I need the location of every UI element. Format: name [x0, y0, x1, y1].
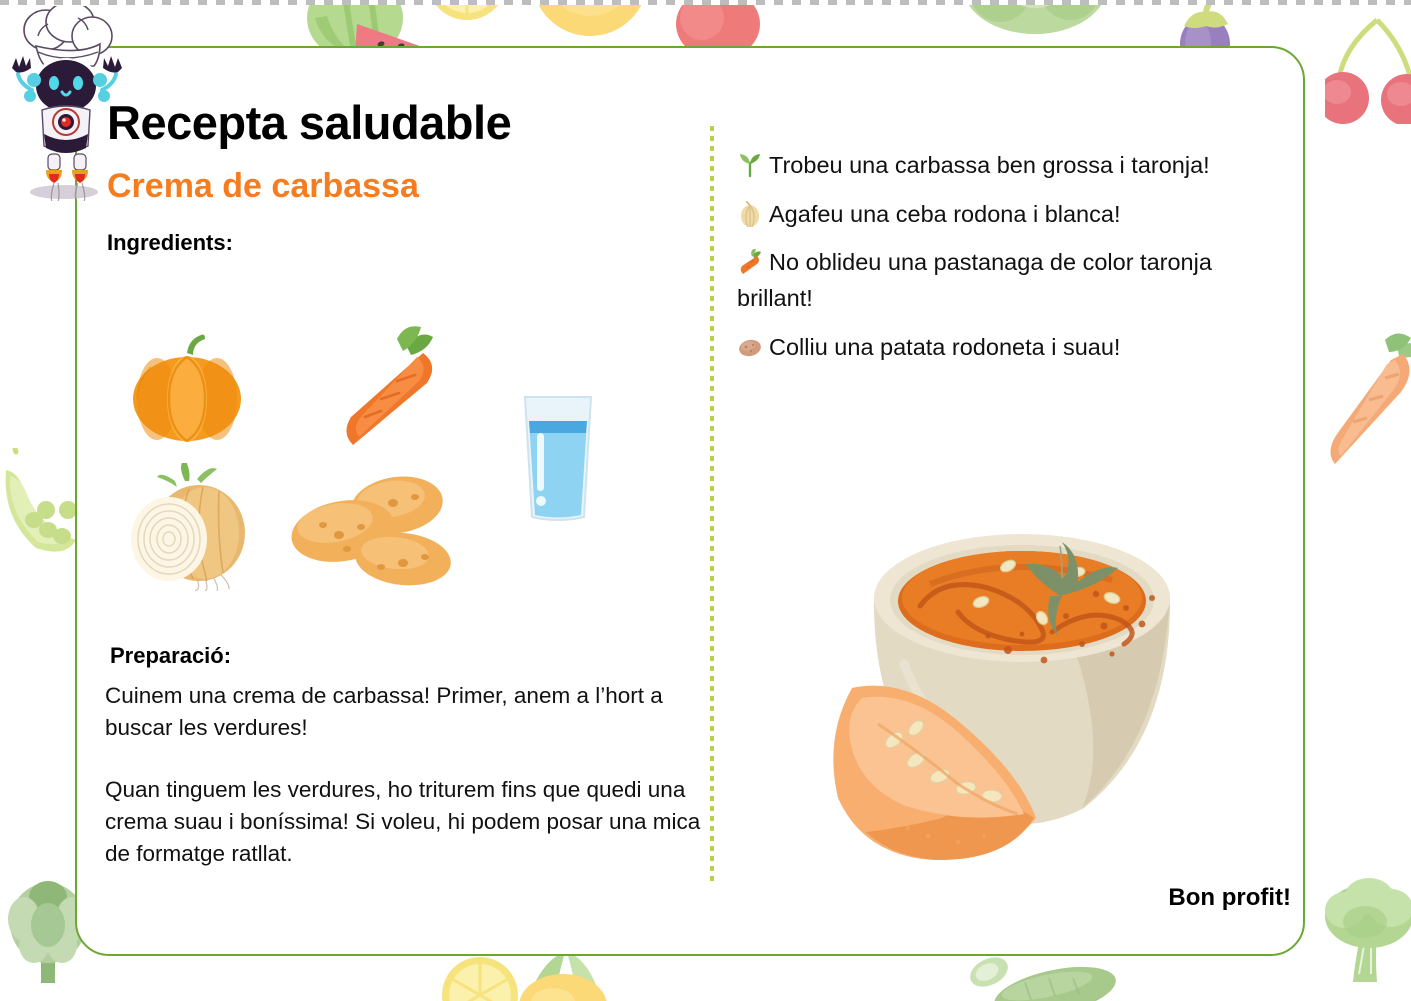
- right-column: Trobeu una carbassa ben grossa i taronja…: [737, 148, 1282, 379]
- ingredients-image-grid: [107, 323, 703, 608]
- step-text: Colliu una patata rodoneta i suau!: [769, 334, 1120, 360]
- lettuce-decoration: [960, 0, 1110, 42]
- recipe-subtitle: Crema de carbassa: [107, 169, 703, 205]
- potatoes-image: [287, 473, 457, 591]
- pumpkin-image: [129, 333, 245, 445]
- closing-text: Bon profit!: [1168, 884, 1291, 912]
- recipe-card-page: Recepta saludable Crema de carbassa Ingr…: [0, 0, 1411, 1001]
- column-divider: [710, 126, 714, 881]
- left-column: Recepta saludable Crema de carbassa Ingr…: [107, 98, 703, 256]
- seedling-icon: [737, 152, 763, 178]
- steps-list: Trobeu una carbassa ben grossa i taronja…: [737, 148, 1282, 366]
- page-title: Recepta saludable: [107, 98, 703, 147]
- broccoli-decoration: [1325, 878, 1411, 988]
- pumpkin-soup-bowl-image: [812, 488, 1232, 868]
- preparation-text: Cuinem una crema de carbassa! Primer, an…: [105, 680, 705, 870]
- cherries-decoration: [1325, 6, 1411, 124]
- potato-icon: [737, 334, 763, 360]
- top-dashed-strip: [0, 0, 1411, 5]
- recipe-card: Recepta saludable Crema de carbassa Ingr…: [75, 46, 1305, 956]
- cucumber-decoration: [965, 952, 1125, 1001]
- preparation-label: Preparació:: [110, 643, 231, 669]
- carrot-icon: [737, 249, 763, 275]
- carrot-edge-decoration: [1325, 330, 1411, 470]
- lemon-slice-decoration: [422, 0, 512, 40]
- step-text: Agafeu una ceba rodona i blanca!: [769, 201, 1120, 227]
- carrot-image: [335, 325, 445, 450]
- preparation-paragraph-1: Cuinem una crema de carbassa! Primer, an…: [105, 680, 705, 744]
- onion-image: [127, 463, 257, 591]
- step-text: No oblideu una pastanaga de color taronj…: [737, 249, 1212, 311]
- preparation-paragraph-2: Quan tinguem les verdures, ho triturem f…: [105, 774, 705, 870]
- ingredients-label: Ingredients:: [107, 230, 703, 256]
- step-text: Trobeu una carbassa ben grossa i taronja…: [769, 152, 1210, 178]
- list-item: Colliu una patata rodoneta i suau!: [737, 330, 1282, 366]
- corn-decoration: [505, 950, 625, 1001]
- list-item: Trobeu una carbassa ben grossa i taronja…: [737, 148, 1282, 184]
- water-glass-image: [515, 391, 601, 523]
- onion-icon: [737, 201, 763, 227]
- list-item: No oblideu una pastanaga de color taronj…: [737, 245, 1282, 316]
- lemon-slice-bottom-decoration: [440, 955, 520, 1001]
- list-item: Agafeu una ceba rodona i blanca!: [737, 197, 1282, 233]
- orange-half-decoration: [525, 0, 655, 40]
